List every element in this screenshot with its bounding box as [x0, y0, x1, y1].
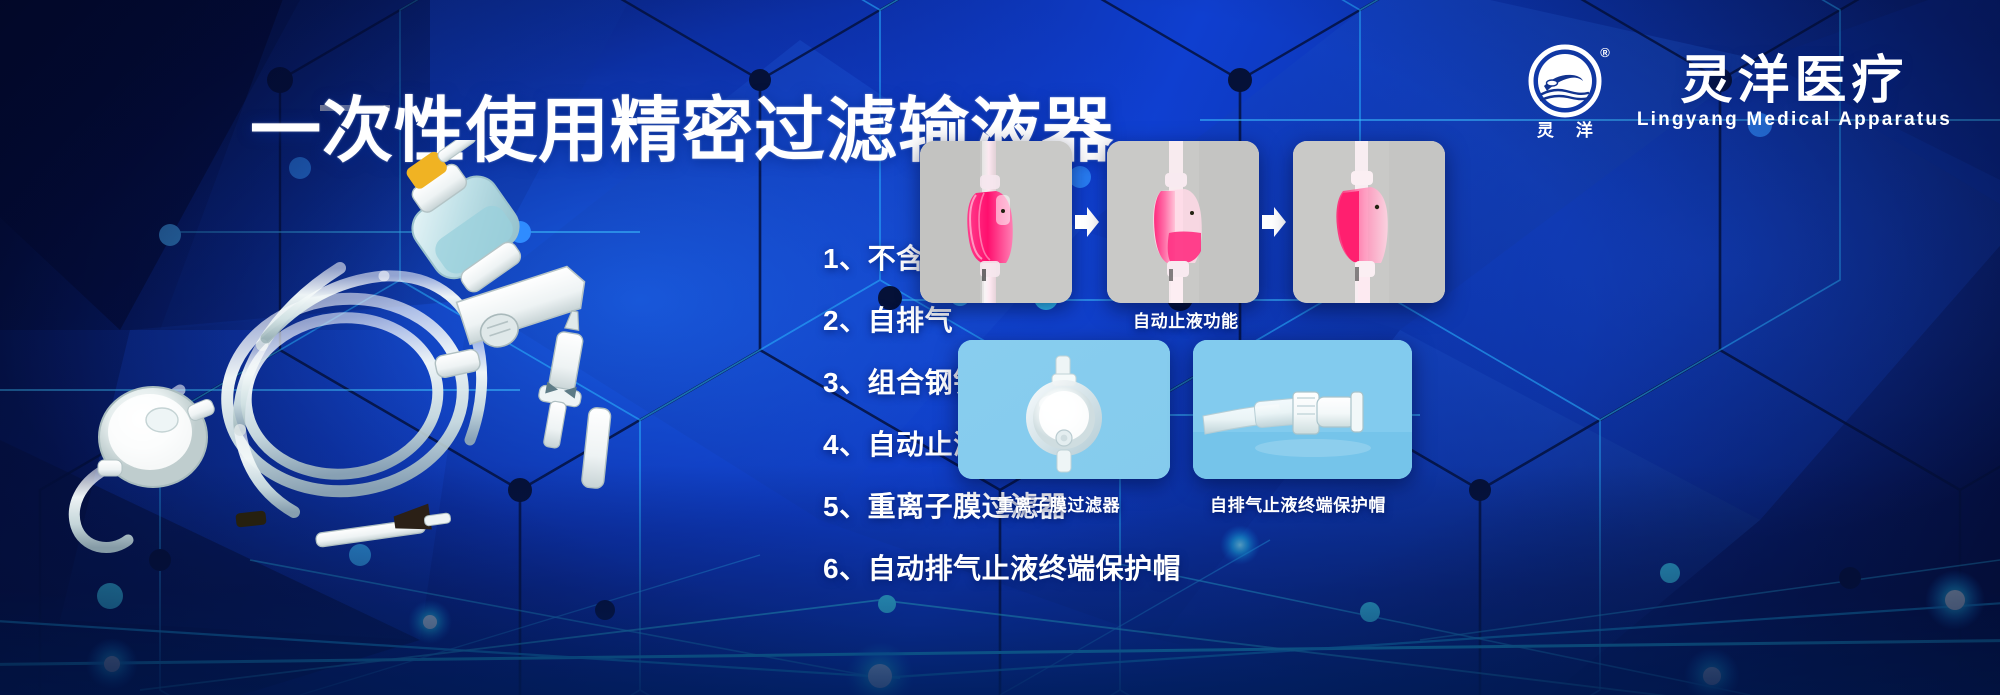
arrow-right-icon-2 [1261, 205, 1287, 239]
brand-name-block: 灵洋医疗 Lingyang Medical Apparatus [1637, 54, 1952, 130]
emblem-svg [1528, 44, 1602, 118]
brand-name-en: Lingyang Medical Apparatus [1637, 110, 1952, 129]
photo-auto-vent-stop-end-cap [1193, 340, 1412, 479]
needle-cap [581, 407, 611, 489]
end-cap-illustration [1193, 340, 1412, 479]
arrow-right-icon-1 [1074, 205, 1100, 239]
photo-drip-chamber-stopped [1293, 141, 1445, 303]
drip-chamber-half-illustration [1107, 141, 1259, 303]
brand-logo: ® 灵 洋 灵洋医疗 Lingyang Medical Apparatus [1515, 44, 1952, 139]
emblem-caption-left: 灵 [1537, 122, 1554, 139]
arrow-right-glyph [1074, 205, 1100, 239]
product-banner: 一次性使用精密过滤输液器 ® 灵 洋 灵洋医疗 Lingya [0, 0, 2000, 695]
emblem-caption-right: 洋 [1576, 122, 1593, 139]
brand-name-cn: 灵洋医疗 [1680, 54, 1908, 109]
photo-ion-membrane-filter [958, 340, 1170, 479]
ion-membrane-filter-illustration [958, 340, 1170, 479]
caption-ion-membrane-filter: 重离子膜过滤器 [997, 497, 1120, 514]
needle-unit [530, 308, 595, 451]
drip-chamber-stopped-illustration [1293, 141, 1445, 303]
feature-item-6: 6、自动排气止液终端保护帽 [823, 538, 1181, 600]
emblem-caption: 灵 洋 [1537, 122, 1593, 139]
photo-drip-chamber-full [920, 141, 1072, 303]
winged-needle [313, 501, 452, 548]
lingyang-circular-emblem-icon: ® [1528, 44, 1602, 118]
filter-unit [98, 387, 216, 487]
inline-connector [434, 348, 482, 379]
caption-end-cap: 自排气止液终端保护帽 [1210, 497, 1386, 514]
arrow-right-glyph [1261, 205, 1287, 239]
photo-drip-chamber-half [1107, 141, 1259, 303]
brand-mark: ® 灵 洋 [1515, 44, 1615, 139]
drip-chamber-full-illustration [920, 141, 1072, 303]
tube-tag [235, 510, 266, 527]
registered-trademark-icon: ® [1600, 46, 1610, 59]
caption-auto-stop: 自动止液功能 [1133, 313, 1239, 330]
infusion-set-illustration [40, 140, 720, 560]
infusion-set-product-photo [40, 140, 720, 560]
